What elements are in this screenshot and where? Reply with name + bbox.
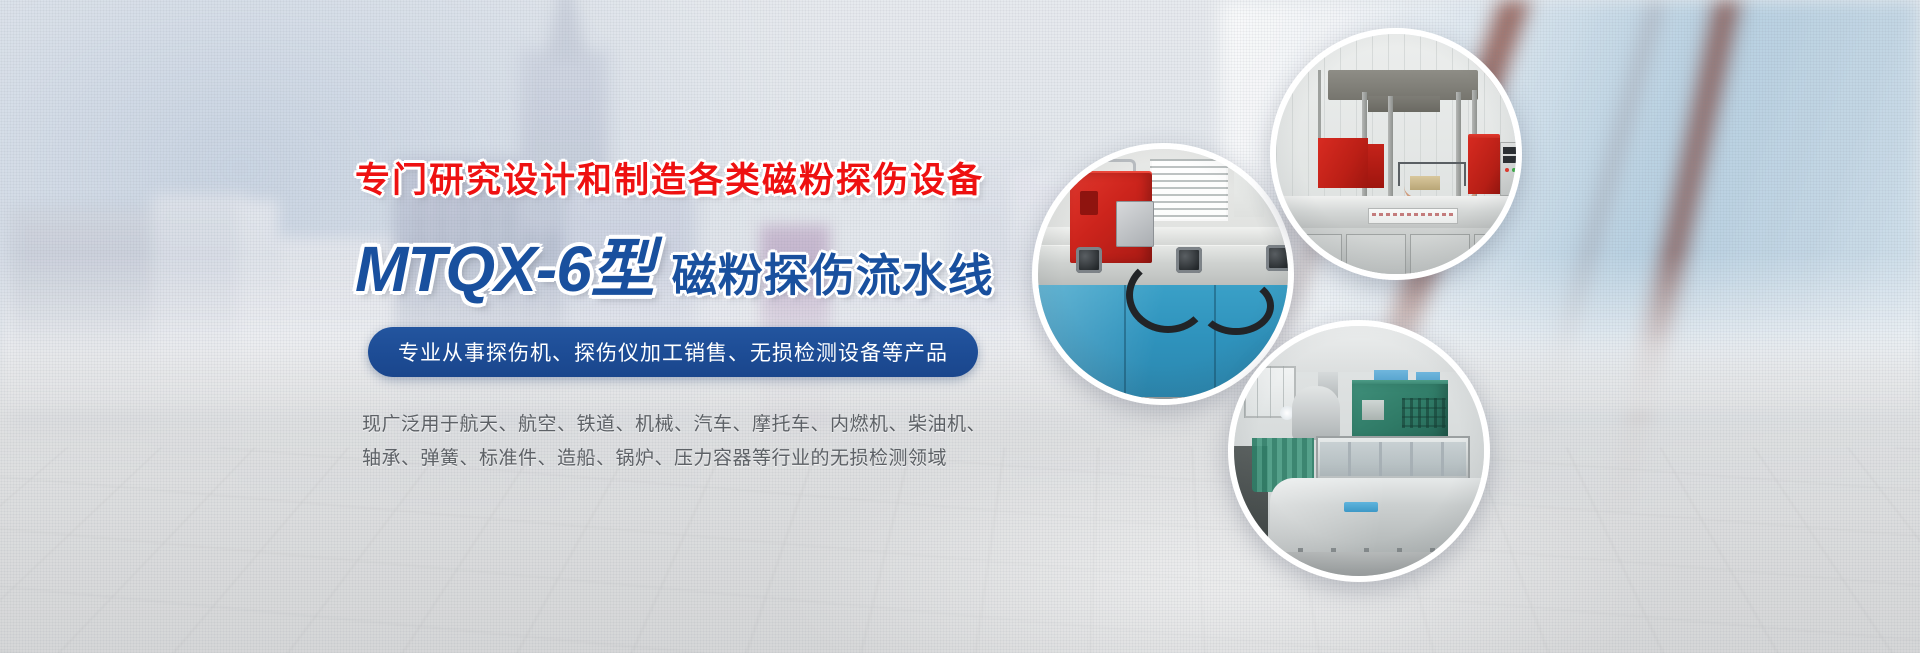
banner-copy: 专门研究设计和制造各类磁粉探伤设备 MTQX-6型 磁粉探伤流水线 专业从事探伤… [0,0,1020,653]
base-door [1346,234,1406,274]
base-door [1474,234,1516,274]
workshop-floor [1234,552,1484,576]
machine-control-panel [1116,201,1154,247]
cabinet-door-seam [1124,285,1126,399]
window-blinds [1150,159,1228,221]
services-pill-label: 专业从事探伤机、探伤仪加工销售、无损检测设备等产品 [398,337,948,367]
banner-main-title: MTQX-6型 磁粉探伤流水线 [355,218,994,310]
control-display [1503,156,1516,163]
exhaust-duct [1292,386,1340,440]
red-cabinet [1468,138,1500,194]
base-door [1410,234,1470,274]
product-photo-canopy-line [1270,28,1522,280]
workshop-window [1234,171,1264,217]
product-photo-canopy-line-scene [1276,34,1516,274]
frame-post [1388,96,1393,202]
canopy-hanger [1318,70,1321,142]
services-pill-badge: 专业从事探伤机、探伤仪加工销售、无损检测设备等产品 [368,327,978,377]
base-door [1282,234,1342,274]
product-type-name: 磁粉探伤流水线 [672,239,994,304]
conveyor-label [1344,502,1378,512]
nameplate [1368,208,1458,224]
promo-banner: 专门研究设计和制造各类磁粉探伤设备 MTQX-6型 磁粉探伤流水线 专业从事探伤… [0,0,1920,653]
description-line-1: 现广泛用于航天、航空、铁道、机械、汽车、摩托车、内燃机、柴油机、 [362,408,986,442]
red-housing [1318,138,1368,188]
red-housing-slot [1080,191,1098,215]
banner-description: 现广泛用于航天、航空、铁道、机械、汽车、摩托车、内燃机、柴油机、 轴承、弹簧、标… [362,408,986,476]
conveyor-body-sheen [1270,478,1484,552]
red-housing-side [1368,144,1384,188]
description-line-2: 轴承、弹簧、标准件、造船、锅炉、压力容器等行业的无损检测领域 [362,442,986,476]
product-photo-production-line [1228,320,1490,582]
product-photo-production-line-scene [1234,326,1484,576]
green-unit-vents [1402,398,1446,428]
exhaust-canopy-inner [1368,96,1440,112]
indicator-light [1512,168,1516,172]
nameplate-text [1372,213,1454,216]
control-display [1503,147,1516,154]
power-cable [1126,257,1210,333]
indicator-light [1505,168,1509,172]
product-model-name: MTQX-6型 [355,218,654,310]
green-unit-panel [1362,400,1384,420]
drive-motor [1076,247,1102,273]
banner-headline-red: 专门研究设计和制造各类磁粉探伤设备 [355,152,984,203]
conveyor-hood-windows [1320,442,1466,476]
